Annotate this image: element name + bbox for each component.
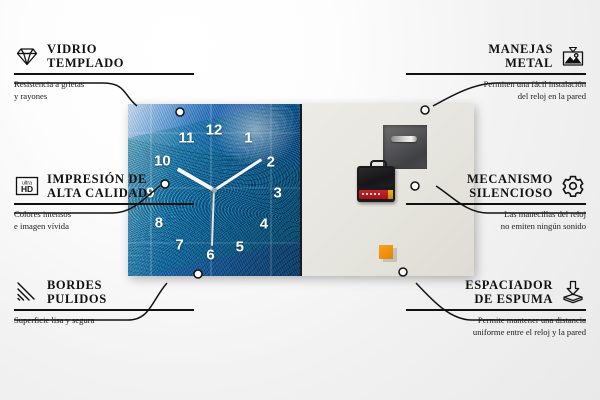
- callout-title: MECANISMO SILENCIOSO: [406, 172, 553, 200]
- callout-title: ESPACIADOR DE ESPUMA: [406, 278, 553, 306]
- clock-numeral-12: 12: [206, 122, 223, 137]
- callout-title: MANEJAS METAL: [406, 42, 553, 70]
- clock-numeral-11: 11: [179, 131, 195, 146]
- callout-description: Permiten una fácil instalación del reloj…: [406, 79, 586, 102]
- callout-rule: [406, 309, 586, 311]
- callout-rule: [406, 203, 586, 205]
- polished-edges-icon: [14, 279, 40, 305]
- clock-mechanism: [357, 166, 395, 202]
- callout-bordes-pulidos: BORDES PULIDOS Superficie lisa y segura: [14, 278, 194, 327]
- callout-title: VIDRIO TEMPLADO: [47, 42, 124, 70]
- clock-numeral-10: 10: [154, 153, 171, 168]
- clock-numeral-5: 5: [236, 239, 244, 254]
- mechanism-body: [359, 168, 393, 187]
- clock-numeral-7: 7: [175, 238, 183, 253]
- callout-rule: [14, 203, 194, 205]
- callout-rule: [406, 73, 586, 75]
- callout-description: Colores intensos e imagen vívida: [14, 209, 194, 232]
- callout-description: Resistencia a grietas y rayones: [14, 79, 194, 102]
- clock-numeral-2: 2: [267, 155, 275, 170]
- battery-terminal: [388, 190, 393, 199]
- clock-numeral-3: 3: [273, 186, 281, 201]
- callout-title: BORDES PULIDOS: [47, 278, 107, 306]
- callout-title: IMPRESIÓN DE ALTA CALIDAD: [47, 172, 148, 200]
- hanger-slot: [391, 136, 417, 142]
- callout-rule: [14, 309, 194, 311]
- clock-numeral-6: 6: [206, 248, 214, 263]
- diamond-icon: [14, 43, 40, 69]
- ultra-hd-icon: ultra HD: [14, 173, 40, 199]
- callout-description: Permite mantener una distancia uniforme …: [406, 315, 586, 338]
- callout-description: Superficie lisa y segura: [14, 315, 194, 327]
- clock-numeral-1: 1: [244, 131, 252, 146]
- clock-center-cap: [212, 188, 217, 193]
- metal-hanger-plate: [383, 125, 427, 169]
- callout-impresion-alta-calidad: ultra HD IMPRESIÓN DE ALTA CALIDAD Color…: [14, 172, 194, 232]
- infographic-canvas: 12 1 2 3 4 5 6 7 8 9 10 11: [0, 0, 600, 400]
- callout-espaciador-de-espuma: ESPACIADOR DE ESPUMA Permite mantener un…: [406, 278, 586, 338]
- battery: [359, 190, 389, 199]
- foam-spacer: [379, 245, 393, 259]
- callout-vidrio-templado: VIDRIO TEMPLADO Resistencia a grietas y …: [14, 42, 194, 102]
- picture-frame-icon: [560, 43, 586, 69]
- callout-description: Las manecillas del reloj no emiten ningú…: [406, 209, 586, 232]
- gear-icon: [560, 173, 586, 199]
- callout-mecanismo-silencioso: MECANISMO SILENCIOSO Las manecillas del …: [406, 172, 586, 232]
- callout-manejas-metal: MANEJAS METAL Permiten una fácil instala…: [406, 42, 586, 102]
- svg-text:HD: HD: [21, 184, 33, 194]
- clock-numeral-4: 4: [260, 217, 268, 232]
- foam-spacer-icon: [560, 279, 586, 305]
- callout-rule: [14, 73, 194, 75]
